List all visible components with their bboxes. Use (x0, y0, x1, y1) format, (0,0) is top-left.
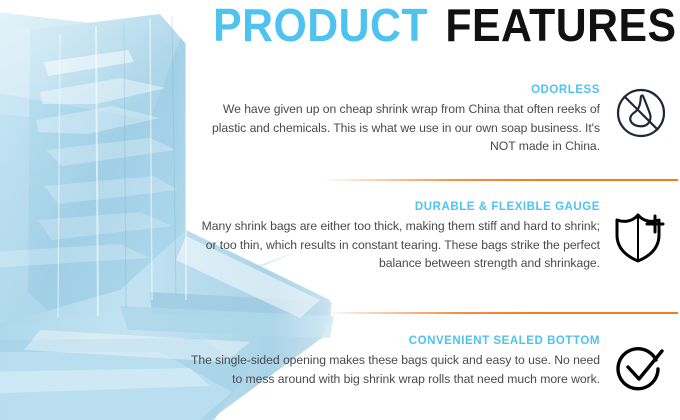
feature-heading: CONVENIENT SEALED BOTTOM (190, 334, 600, 348)
feature-body: Many shrink bags are either too thick, m… (190, 217, 600, 273)
feature-body: The single-sided opening makes these bag… (190, 351, 600, 388)
feature-body: We have given up on cheap shrink wrap fr… (190, 100, 600, 156)
no-odor-icon (610, 85, 672, 141)
feature-text: CONVENIENT SEALED BOTTOM The single-side… (190, 334, 600, 388)
feature-heading: ODORLESS (190, 83, 600, 97)
feature-block-durable-flexible-gauge: DURABLE & FLEXIBLE GAUGE Many shrink bag… (72, 200, 672, 273)
feature-block-convenient-sealed-bottom: CONVENIENT SEALED BOTTOM The single-side… (72, 334, 672, 396)
feature-text: DURABLE & FLEXIBLE GAUGE Many shrink bag… (190, 200, 600, 273)
product-features-infographic: PRODUCTFEATURES ODORLESS We have given u… (0, 0, 680, 420)
feature-heading: DURABLE & FLEXIBLE GAUGE (190, 200, 600, 214)
page-title-secondary: FEATURES (445, 2, 676, 48)
shield-plus-icon (610, 208, 672, 266)
feature-text: ODORLESS We have given up on cheap shrin… (190, 83, 600, 156)
feature-divider (323, 312, 678, 314)
feature-block-odorless: ODORLESS We have given up on cheap shrin… (72, 83, 672, 156)
page-title-primary: PRODUCT (213, 2, 428, 48)
check-circle-icon (610, 338, 672, 396)
feature-divider (323, 179, 678, 181)
page-title: PRODUCTFEATURES (197, 2, 676, 48)
